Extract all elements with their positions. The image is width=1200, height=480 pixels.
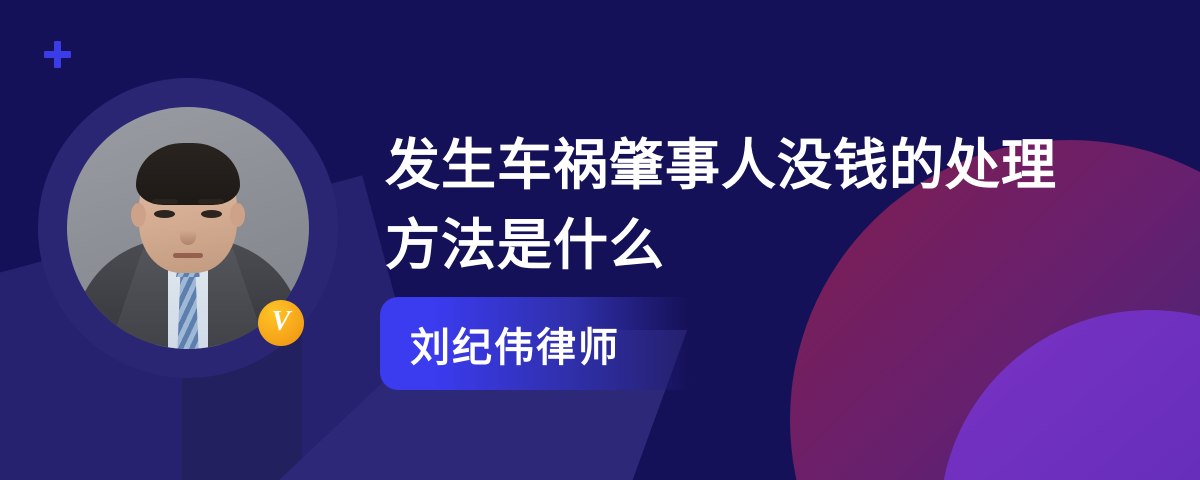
portrait-ear-right bbox=[230, 203, 245, 227]
page-title: 发生车祸肇事人没钱的处理方法是什么 bbox=[385, 125, 1085, 285]
portrait-ear-left bbox=[131, 203, 146, 227]
avatar: V bbox=[38, 78, 338, 378]
portrait-eye-right bbox=[201, 210, 222, 218]
plus-icon-vertical-bar bbox=[54, 41, 61, 68]
verified-badge-label: V bbox=[272, 308, 291, 336]
lawyer-name-label: 刘纪伟律师 bbox=[380, 315, 620, 373]
verified-badge-icon: V bbox=[258, 300, 304, 346]
banner-content: 发生车祸肇事人没钱的处理方法是什么 刘纪伟律师 bbox=[385, 0, 1175, 480]
portrait-eyebrow-right bbox=[198, 199, 224, 204]
portrait-mouth bbox=[173, 253, 203, 258]
portrait-eye-left bbox=[154, 210, 175, 218]
plus-icon bbox=[44, 41, 71, 68]
portrait-nose bbox=[180, 221, 196, 245]
lawyer-name-badge[interactable]: 刘纪伟律师 bbox=[380, 297, 715, 390]
portrait-eyebrow-left bbox=[152, 199, 178, 204]
lawyer-article-banner: V 发生车祸肇事人没钱的处理方法是什么 刘纪伟律师 bbox=[0, 0, 1200, 480]
portrait-hair bbox=[136, 143, 240, 205]
